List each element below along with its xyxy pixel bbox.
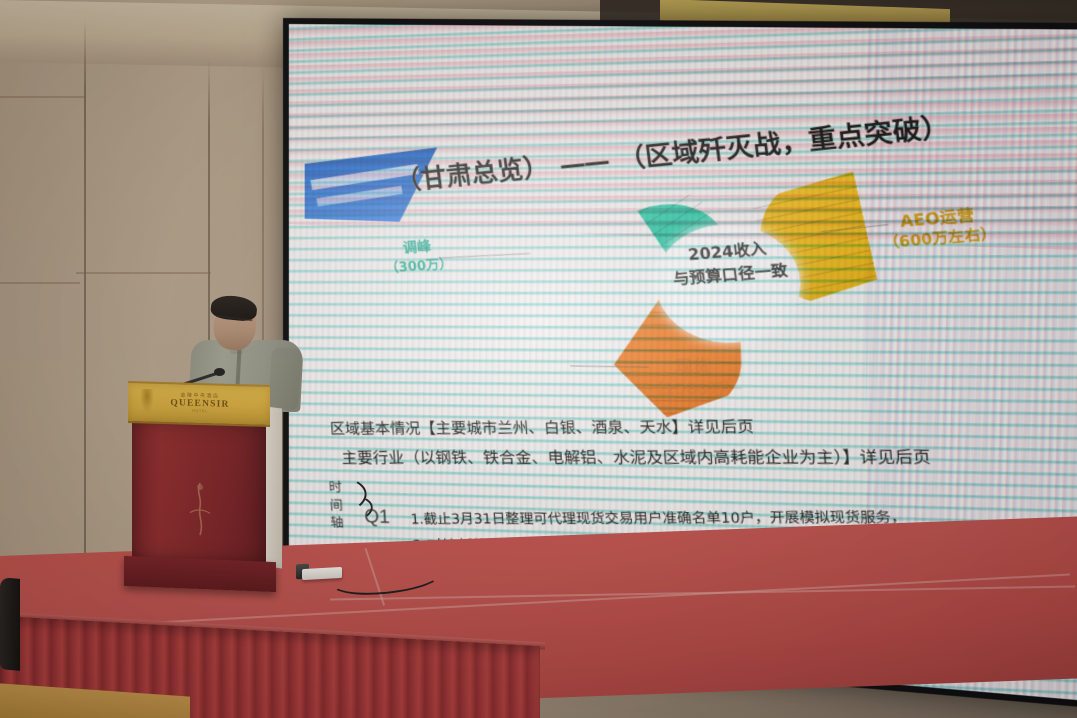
presentation-photo: （甘肃总览）——（区域歼灭战，重点突破） 2024收入 与预算口径一致 调峰 — [0, 0, 1077, 718]
wall-seam-horizontal — [0, 282, 80, 284]
callout-xianhuo-name: 现货 — [646, 355, 741, 378]
podium-base — [124, 556, 276, 592]
podium-brand: 金陵中央酒店 QUEENSIR HOTEL — [150, 391, 250, 415]
microphone-head — [214, 368, 225, 376]
power-strip — [302, 567, 342, 580]
callout-tiaofeng-value: （300万） — [385, 256, 454, 278]
slide-title-right: （区域歼灭战，重点突破） — [617, 111, 952, 175]
body-line-1: 区域基本情况【主要城市兰州、白银、酒泉、天水】详见后页 — [329, 410, 1022, 443]
callout-aeo: AEO运营 （600万左右） — [879, 203, 998, 255]
wall-seam-horizontal — [76, 272, 211, 274]
callout-xianhuo: 现货 （1500万） — [646, 355, 742, 399]
callout-xianhuo-value: （1500万） — [647, 378, 742, 399]
body-line-2: 主要行业（以钢铁、铁合金、电解铝、水泥及区域内高耗能企业为主）】详见后页 — [341, 442, 1025, 474]
chair-back — [0, 577, 20, 671]
wall-seam-horizontal — [0, 96, 86, 98]
wall-seam — [84, 18, 86, 618]
speaker-arm — [268, 347, 302, 411]
slide-title-dash: —— — [547, 145, 620, 182]
slide-body-text: 区域基本情况【主要城市兰州、白银、酒泉、天水】详见后页 主要行业（以钢铁、铁合金… — [329, 410, 1024, 474]
